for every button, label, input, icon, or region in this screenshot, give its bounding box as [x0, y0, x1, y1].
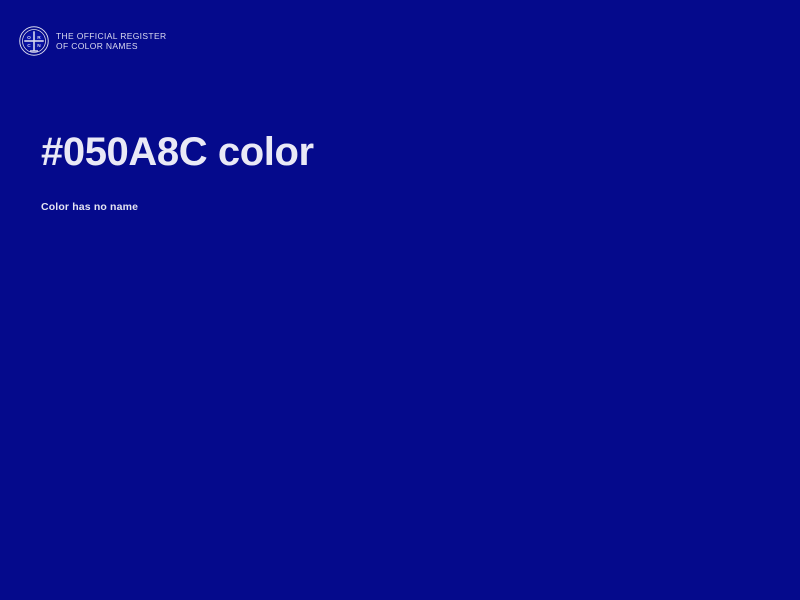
svg-text:R: R	[37, 35, 41, 41]
brand-wordmark-line-2: OF COLOR NAMES	[56, 41, 166, 51]
brand-wordmark: THE OFFICIAL REGISTER OF COLOR NAMES	[56, 31, 166, 51]
page-title: #050A8C color	[41, 130, 760, 175]
site-header[interactable]: O R C N THE OFFICIAL REGISTER OF COLOR N…	[19, 26, 166, 56]
svg-text:O: O	[27, 35, 31, 41]
register-seal-icon-graphic: O R C N	[19, 26, 49, 56]
main-content: #050A8C color Color has no name	[41, 130, 760, 214]
brand-wordmark-line-1: THE OFFICIAL REGISTER	[56, 31, 166, 41]
svg-text:N: N	[37, 43, 41, 49]
svg-text:C: C	[27, 43, 31, 49]
color-name-status: Color has no name	[41, 201, 760, 215]
register-seal-icon: O R C N	[19, 26, 49, 56]
